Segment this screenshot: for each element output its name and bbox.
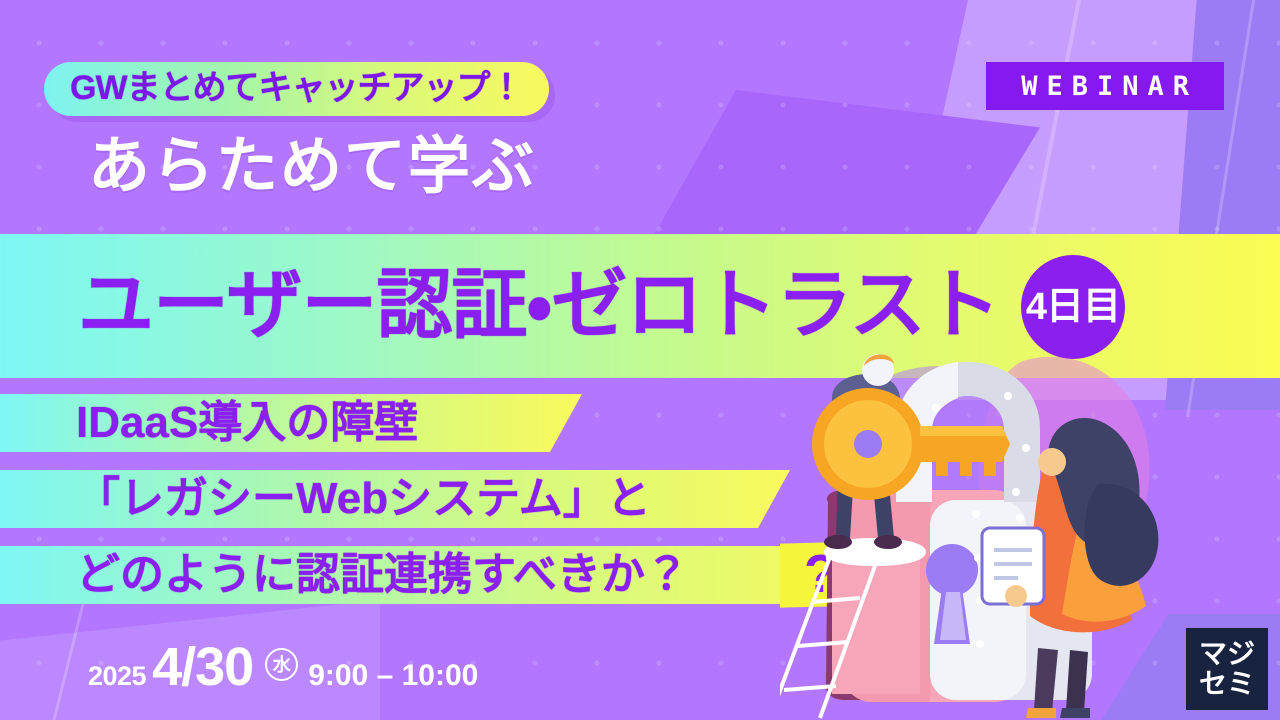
subtitle-band-3: どのように認証連携すべきか？ bbox=[0, 546, 866, 604]
lead-line-text: あらためて学ぶ bbox=[88, 136, 536, 198]
woman-legs bbox=[1034, 648, 1058, 712]
person-shoe-2 bbox=[874, 535, 902, 549]
catch-copy-text: GWまとめてキャッチアップ！ bbox=[70, 71, 523, 105]
pedestal bbox=[832, 548, 920, 694]
padlock-key-security-illustration: ? bbox=[780, 352, 1160, 720]
subtitle-band-2: 「レガシーWebシステム」と bbox=[0, 470, 790, 528]
schedule-month-day: 4/30 bbox=[146, 636, 255, 698]
schedule-year: 2025 bbox=[88, 661, 146, 692]
person-shoe-1 bbox=[824, 535, 852, 549]
woman-shoe-2 bbox=[1060, 708, 1090, 718]
woman-hair-volume bbox=[1085, 484, 1159, 586]
webinar-banner: GWまとめてキャッチアップ！ WEBINAR あらためて学ぶ ユーザー認証・ゼロ… bbox=[0, 0, 1280, 720]
woman-face bbox=[1038, 448, 1066, 476]
schedule-time: 9:00 – 10:00 bbox=[308, 659, 478, 693]
logo-line-2: セミ bbox=[1199, 670, 1255, 699]
schedule-day-of-week: 水 bbox=[265, 648, 298, 681]
logo-line-1: マジ bbox=[1199, 640, 1255, 669]
day-number-label: 4日目 bbox=[1026, 288, 1120, 326]
catch-copy-pill: GWまとめてキャッチアップ！ bbox=[44, 62, 549, 116]
day-number-badge: 4日目 bbox=[1021, 255, 1125, 359]
schedule-row: 2025 4/30 水 9:00 – 10:00 bbox=[88, 636, 478, 692]
woman-shoe-1 bbox=[1026, 708, 1056, 718]
main-title-text: ユーザー認証・ゼロトラスト bbox=[78, 268, 1000, 344]
subtitle-text-2: 「レガシーWebシステム」と bbox=[76, 477, 651, 521]
majisemi-logo: マジ セミ bbox=[1186, 628, 1268, 710]
subtitle-text-1: IDaaS導入の障壁 bbox=[76, 401, 418, 445]
webinar-badge-label: WEBINAR bbox=[1012, 73, 1198, 100]
subtitle-text-3: どのように認証連携すべきか？ bbox=[76, 553, 689, 597]
webinar-badge: WEBINAR bbox=[986, 62, 1224, 110]
woman-hand bbox=[1005, 585, 1027, 607]
subtitle-band-1: IDaaS導入の障壁 bbox=[0, 394, 582, 452]
